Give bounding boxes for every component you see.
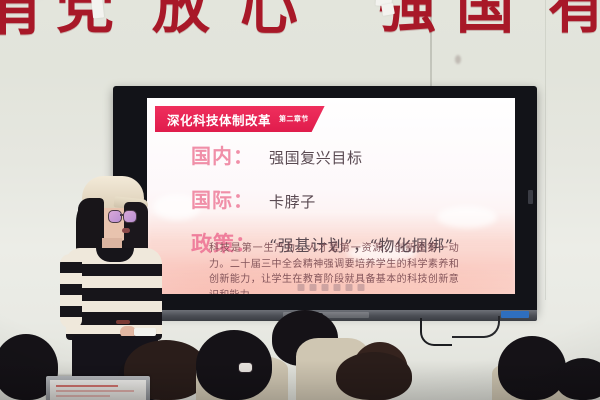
toolbar-icon-more[interactable] (358, 284, 365, 291)
student-hair-tie (238, 362, 253, 373)
banner-char-3: 心 (240, 0, 298, 37)
student-head-4 (196, 330, 272, 400)
laptop-screen[interactable] (50, 380, 146, 400)
student-head-7 (336, 352, 412, 400)
banner-char-5: 国 (456, 0, 514, 36)
open-laptop[interactable] (46, 376, 150, 400)
slide-player-toolbar[interactable] (298, 284, 365, 291)
student-head-9 (556, 358, 600, 400)
row-value-domestic: 强国复兴目标 (269, 147, 363, 168)
glasses-lens-left (108, 210, 122, 223)
tape-patch-left (91, 0, 104, 19)
toolbar-icon-pen[interactable] (298, 284, 305, 291)
toolbar-icon-next[interactable] (346, 284, 353, 291)
glasses-lens-right (123, 210, 137, 223)
banner-char-0: 有 (0, 0, 44, 38)
presenter-glasses (108, 210, 136, 221)
interactive-flat-panel[interactable]: 深化科技体制改革 第二章节 国内： 强国复兴目标 国际： 卡脖子 政策： “强基… (113, 86, 537, 314)
red-slogan-banner: 有 党 放 心 强 国 有 (0, 0, 600, 46)
row-label-domestic: 国内： (191, 140, 269, 169)
toolbar-icon-eraser[interactable] (322, 284, 329, 291)
student-head-8 (498, 336, 566, 400)
tape-patch-mid-b (381, 3, 395, 16)
slide-section-badge: 深化科技体制改革 第二章节 (155, 106, 325, 132)
sleeve-stripe-1 (60, 262, 82, 273)
row-label-international: 国际： (191, 184, 269, 213)
toolbar-icon-prev[interactable] (334, 284, 341, 291)
sweater-collar (96, 248, 134, 262)
panel-side-button-right[interactable] (528, 190, 533, 204)
panel-screen[interactable]: 深化科技体制改革 第二章节 国内： 强国复兴目标 国际： 卡脖子 政策： “强基… (147, 98, 515, 294)
presenter-mouth (122, 228, 130, 233)
slide-row-international: 国际： 卡脖子 (147, 184, 515, 213)
slide-badge-subtitle: 第二章节 (279, 114, 309, 124)
slide-row-domestic: 国内： 强国复兴目标 (147, 140, 515, 169)
classroom-scene: 有 党 放 心 强 国 有 深化科技体制改革 第二章节 (0, 0, 600, 400)
laptop-screen-line-3 (56, 395, 110, 397)
slide-badge-title: 深化科技体制改革 (167, 110, 271, 129)
banner-char-6: 有 (548, 0, 600, 36)
toolbar-icon-highlighter[interactable] (310, 284, 317, 291)
laptop-screen-line-1 (56, 385, 118, 387)
sleeve-stripe-2 (60, 284, 82, 295)
banner-char-2: 放 (152, 0, 210, 36)
laptop-screen-line-2 (56, 390, 134, 392)
wall-smudge (455, 55, 461, 64)
presentation-slide: 深化科技体制改革 第二章节 国内： 强国复兴目标 国际： 卡脖子 政策： “强基… (147, 98, 515, 294)
banner-char-1: 党 (56, 0, 114, 36)
row-value-international: 卡脖子 (269, 191, 316, 212)
